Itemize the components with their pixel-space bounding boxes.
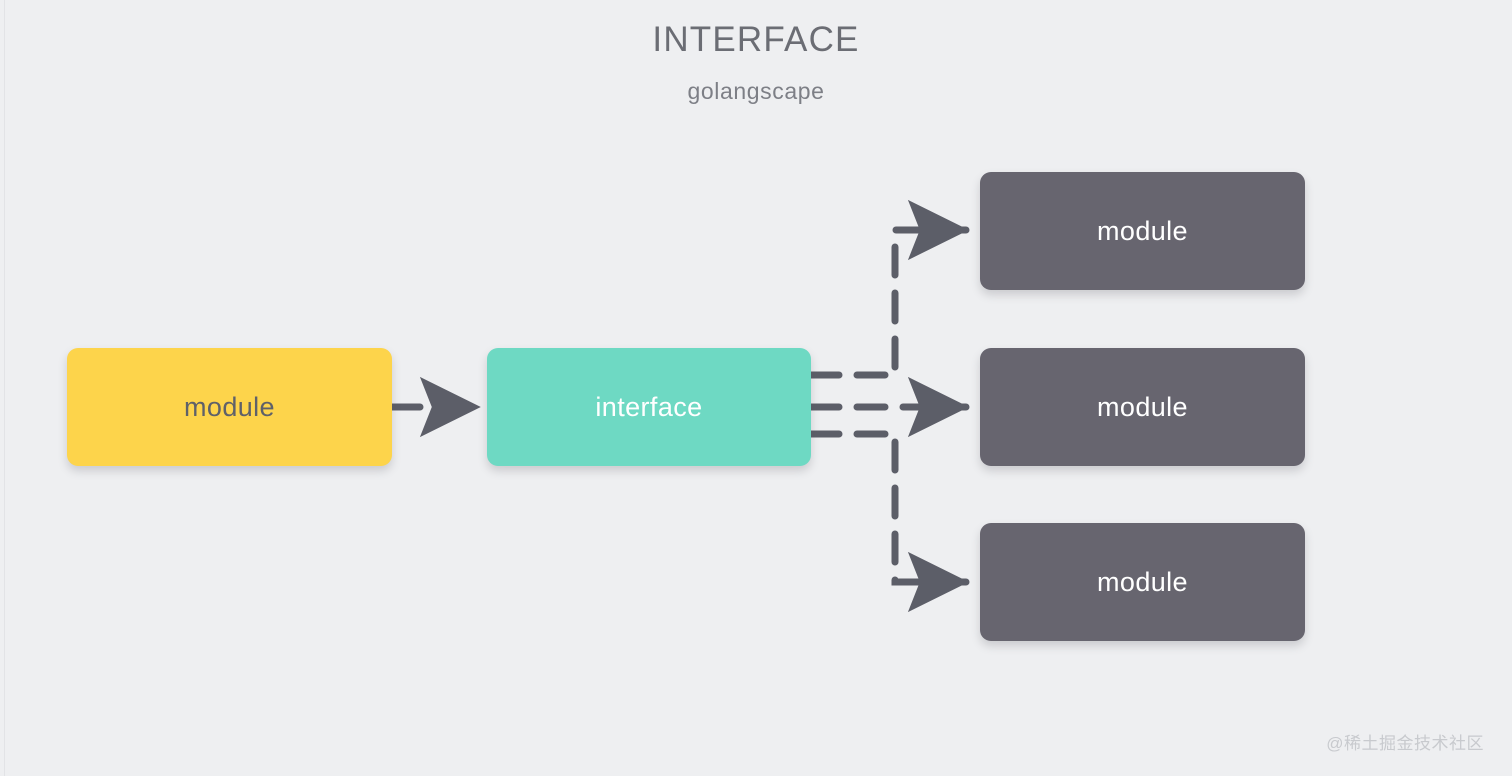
node-label: module xyxy=(1097,390,1188,424)
node-label: module xyxy=(1097,565,1188,599)
page-subtitle: golangscape xyxy=(0,75,1512,107)
node-target-module-3[interactable]: module xyxy=(980,523,1305,641)
node-source-module[interactable]: module xyxy=(67,348,392,466)
page-title: INTERFACE xyxy=(0,18,1512,62)
node-label: module xyxy=(1097,214,1188,248)
page-edge-divider xyxy=(4,0,5,776)
edge-interface-to-target-3 xyxy=(811,434,966,582)
node-target-module-1[interactable]: module xyxy=(980,172,1305,290)
edge-interface-to-target-1 xyxy=(811,230,966,375)
node-label: module xyxy=(184,390,275,424)
node-interface[interactable]: interface xyxy=(487,348,811,466)
diagram-canvas: INTERFACE golangscape module interface m… xyxy=(0,0,1512,776)
node-label: interface xyxy=(595,390,702,424)
watermark: @稀土掘金技术社区 xyxy=(1326,729,1484,754)
node-target-module-2[interactable]: module xyxy=(980,348,1305,466)
